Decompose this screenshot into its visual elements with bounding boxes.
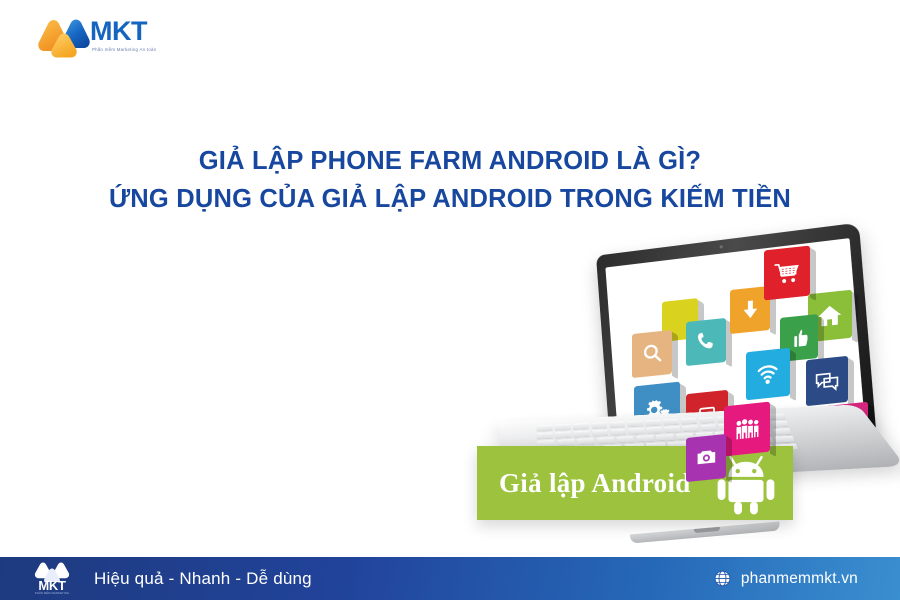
globe-icon — [713, 569, 732, 588]
keyboard-key — [591, 422, 607, 429]
footer-website[interactable]: phanmemmkt.vn — [713, 569, 858, 588]
keyboard-key — [610, 429, 627, 436]
mkt-mountain-logo-icon — [34, 16, 92, 58]
brand-logo: MKT Phần mềm Marketing An toàn — [34, 14, 194, 62]
keyboard-key — [557, 439, 575, 446]
keyboard-key — [577, 438, 595, 445]
keyboard-key — [627, 421, 643, 428]
keyboard-key — [698, 417, 715, 424]
footer-bar: MKT PHẦN MỀM MARKETING Hiệu quả - Nhanh … — [0, 557, 900, 600]
footer-brand-tagline: PHẦN MỀM MARKETING — [26, 591, 78, 595]
keyboard-key — [680, 418, 697, 425]
tile-wifi-icon — [746, 348, 790, 401]
page-title: GIẢ LẬP PHONE FARM ANDROID LÀ GÌ? ỨNG DỤ… — [0, 142, 900, 218]
keyboard-key — [664, 426, 681, 433]
keyboard-key — [663, 419, 680, 426]
keyboard-key — [682, 425, 699, 432]
tile-phone-icon — [686, 318, 726, 366]
keyboard-key — [636, 435, 654, 442]
laptop-front-lip — [630, 521, 780, 543]
keyboard-key — [616, 436, 634, 443]
tile-chat-bubbles-icon — [806, 356, 848, 406]
footer-slogan: Hiệu quả - Nhanh - Dễ dùng — [94, 569, 312, 589]
keyboard-key — [537, 432, 553, 439]
footer-website-label: phanmemmkt.vn — [741, 570, 858, 588]
tile-search-icon — [632, 330, 672, 378]
keyboard-key — [592, 430, 608, 437]
keyboard-key — [555, 424, 571, 431]
keyboard-key — [646, 427, 663, 434]
keyboard-key — [555, 431, 571, 438]
page-title-line-1: GIẢ LẬP PHONE FARM ANDROID LÀ GÌ? — [0, 142, 900, 180]
keyboard-key — [700, 424, 717, 431]
keyboard-key — [597, 437, 615, 444]
page-title-line-2: ỨNG DỤNG CỦA GIẢ LẬP ANDROID TRONG KIẾM … — [0, 180, 900, 218]
android-badge: Giả lập Android — [477, 446, 793, 520]
webcam-icon — [719, 245, 722, 249]
tile-shopping-cart-icon — [764, 246, 810, 301]
brand-wordmark: MKT — [90, 18, 147, 45]
keyboard-key — [537, 425, 553, 432]
footer-brand-logo: MKT PHẦN MỀM MARKETING — [26, 561, 78, 597]
keyboard-key — [609, 421, 625, 428]
keyboard-key — [573, 431, 589, 438]
keyboard-key — [774, 436, 795, 443]
keyboard-key — [645, 420, 662, 427]
keyboard-key — [656, 434, 674, 441]
brand-tagline: Phần mềm Marketing An toàn — [92, 47, 156, 52]
keyboard-key — [628, 428, 645, 435]
tile-camera-icon — [686, 434, 726, 482]
keyboard-key — [573, 423, 589, 430]
poster-canvas: MKT Phần mềm Marketing An toàn GIẢ LẬP P… — [0, 0, 900, 600]
android-badge-label: Giả lập Android — [477, 468, 713, 499]
